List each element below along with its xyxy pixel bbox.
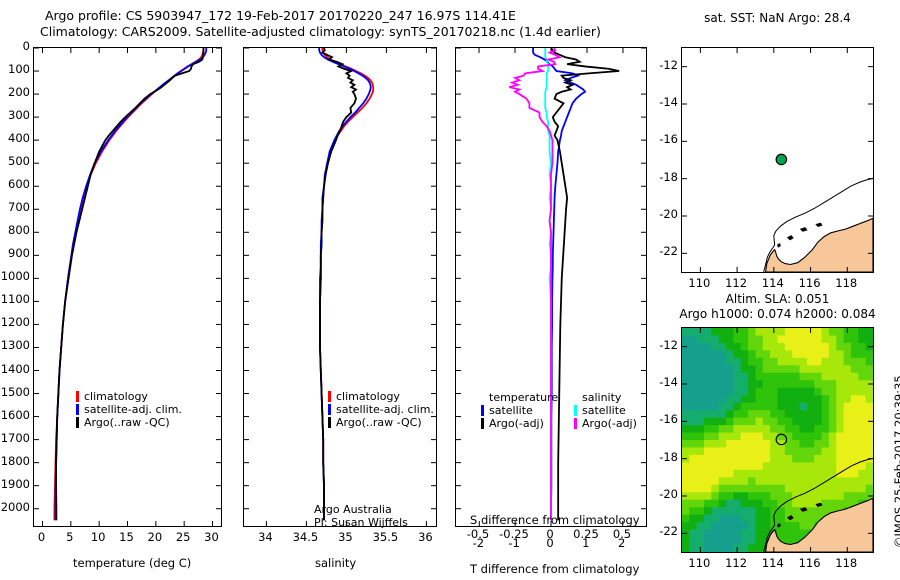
tick-label: 110	[683, 556, 715, 570]
tick-label: 0	[530, 527, 570, 541]
header-line-1: Argo profile: CS 5903947_172 19-Feb-2017…	[45, 8, 516, 23]
legend-swatch	[328, 417, 331, 428]
tick-label: 116	[794, 556, 826, 570]
tick-label: 118	[830, 276, 862, 290]
legend-label: climatology	[84, 390, 148, 403]
tick-label: 34.5	[288, 530, 322, 544]
tick-label: 1100	[0, 292, 30, 306]
legend-swatch	[481, 392, 484, 403]
tick-label: -16	[648, 412, 678, 426]
sla-map-panel[interactable]	[681, 327, 874, 553]
tick-label: 300	[0, 108, 30, 122]
tick-label: -14	[648, 95, 678, 109]
legend-item: satellite	[574, 404, 637, 417]
legend-item: salinity	[574, 391, 637, 404]
tick-label: 0.5	[602, 527, 642, 541]
tick-label: 36	[408, 530, 442, 544]
tick-label: -22	[648, 524, 678, 538]
difference-profile-panel[interactable]	[455, 47, 647, 527]
tick-label: 116	[794, 276, 826, 290]
tick-label: 500	[0, 154, 30, 168]
legend-item: Argo(-adj)	[481, 417, 558, 430]
temperature-difference-axis-label: T difference from climatology	[470, 562, 639, 576]
argo-australia-credit: Argo Australia PI: Susan Wijffels	[314, 503, 408, 529]
legend-label: satellite	[489, 404, 533, 417]
legend-item: Argo(..raw -QC)	[328, 416, 434, 429]
tick-label: 0	[0, 39, 30, 53]
temperature-axis-label: temperature (deg C)	[73, 556, 191, 570]
tick-label: 114	[757, 276, 789, 290]
tick-label: 2000	[0, 500, 30, 514]
legend-label: salinity	[582, 391, 621, 404]
temperature-profile-panel[interactable]	[33, 47, 222, 527]
legend-label: temperature	[489, 391, 558, 404]
legend-swatch	[574, 392, 577, 403]
sla-map-title-line-1: Altim. SLA: 0.051	[681, 292, 874, 306]
tick-label: 1200	[0, 315, 30, 329]
tick-label: 34	[248, 530, 282, 544]
legend-swatch	[481, 405, 484, 416]
tick-label: -18	[648, 170, 678, 184]
legend-swatch	[328, 391, 331, 402]
salinity-axis-label: salinity	[315, 556, 356, 570]
tick-label: 1600	[0, 408, 30, 422]
legend-label: Argo(..raw -QC)	[336, 416, 422, 429]
sst-map-panel[interactable]	[681, 47, 874, 273]
tick-label: 600	[0, 177, 30, 191]
tick-label: 35	[328, 530, 362, 544]
legend-swatch	[76, 391, 79, 402]
agency-name: Argo Australia	[314, 503, 408, 516]
legend-label: satellite-adj. clim.	[336, 403, 434, 416]
legend-item: temperature	[481, 391, 558, 404]
tick-label: 1800	[0, 454, 30, 468]
tick-label: 10	[88, 530, 108, 544]
tick-label: -12	[648, 338, 678, 352]
tick-label: -12	[648, 58, 678, 72]
sst-map-title: sat. SST: NaN Argo: 28.4	[681, 11, 874, 25]
tick-label: 5	[60, 530, 80, 544]
tick-label: -0.25	[494, 527, 534, 541]
tick-label: 35.5	[368, 530, 402, 544]
legend-item: satellite	[481, 404, 558, 417]
temperature-legend: climatologysatellite-adj. clim.Argo(..ra…	[76, 390, 182, 429]
tick-label: 800	[0, 223, 30, 237]
salinity-difference-axis-label: S difference from climatology	[470, 513, 640, 527]
tick-label: 1700	[0, 431, 30, 445]
difference-legend-temperature: temperaturesatelliteArgo(-adj)	[481, 391, 558, 430]
legend-swatch	[328, 404, 331, 415]
legend-label: satellite-adj. clim.	[84, 403, 182, 416]
legend-item: satellite-adj. clim.	[328, 403, 434, 416]
tick-label: 118	[830, 556, 862, 570]
salinity-profile-panel[interactable]	[243, 47, 437, 527]
legend-label: Argo(-adj)	[489, 417, 544, 430]
tick-label: 1300	[0, 338, 30, 352]
tick-label: -20	[648, 487, 678, 501]
tick-label: -18	[648, 450, 678, 464]
legend-item: Argo(-adj)	[574, 417, 637, 430]
tick-label: 700	[0, 200, 30, 214]
tick-label: -22	[648, 244, 678, 258]
salinity-legend: climatologysatellite-adj. clim.Argo(..ra…	[328, 390, 434, 429]
tick-label: 112	[720, 276, 752, 290]
sla-map-title-line-2: Argo h1000: 0.074 h2000: 0.084	[661, 307, 894, 321]
legend-swatch	[76, 417, 79, 428]
legend-label: satellite	[582, 404, 626, 417]
tick-label: 1400	[0, 362, 30, 376]
tick-label: -16	[648, 132, 678, 146]
header-line-2: Climatology: CARS2009. Satellite-adjuste…	[40, 24, 601, 39]
tick-label: 900	[0, 246, 30, 260]
legend-item: satellite-adj. clim.	[76, 403, 182, 416]
tick-label: 100	[0, 62, 30, 76]
tick-label: 0	[32, 530, 52, 544]
legend-item: climatology	[328, 390, 434, 403]
tick-label: 25	[173, 530, 193, 544]
tick-label: 400	[0, 131, 30, 145]
copyright-text: ©IMOS 25-Feb-2017 20:39:35	[892, 375, 900, 548]
tick-label: 112	[720, 556, 752, 570]
legend-swatch	[574, 405, 577, 416]
difference-legend-salinity: salinitysatelliteArgo(-adj)	[574, 391, 637, 430]
tick-label: 30	[202, 530, 222, 544]
legend-label: Argo(..raw -QC)	[84, 416, 170, 429]
legend-swatch	[481, 418, 484, 429]
legend-swatch	[574, 418, 577, 429]
principal-investigator: PI: Susan Wijffels	[314, 516, 408, 529]
tick-label: 15	[117, 530, 137, 544]
tick-label: 1900	[0, 477, 30, 491]
tick-label: 110	[683, 276, 715, 290]
legend-swatch	[76, 404, 79, 415]
legend-label: Argo(-adj)	[582, 417, 637, 430]
tick-label: 0.25	[566, 527, 606, 541]
tick-label: -14	[648, 375, 678, 389]
legend-item: climatology	[76, 390, 182, 403]
tick-label: 114	[757, 556, 789, 570]
tick-label: -20	[648, 207, 678, 221]
legend-label: climatology	[336, 390, 400, 403]
tick-label: 1500	[0, 385, 30, 399]
tick-label: 20	[145, 530, 165, 544]
tick-label: 200	[0, 85, 30, 99]
tick-label: -0.5	[458, 527, 498, 541]
legend-item: Argo(..raw -QC)	[76, 416, 182, 429]
tick-label: 1000	[0, 269, 30, 283]
